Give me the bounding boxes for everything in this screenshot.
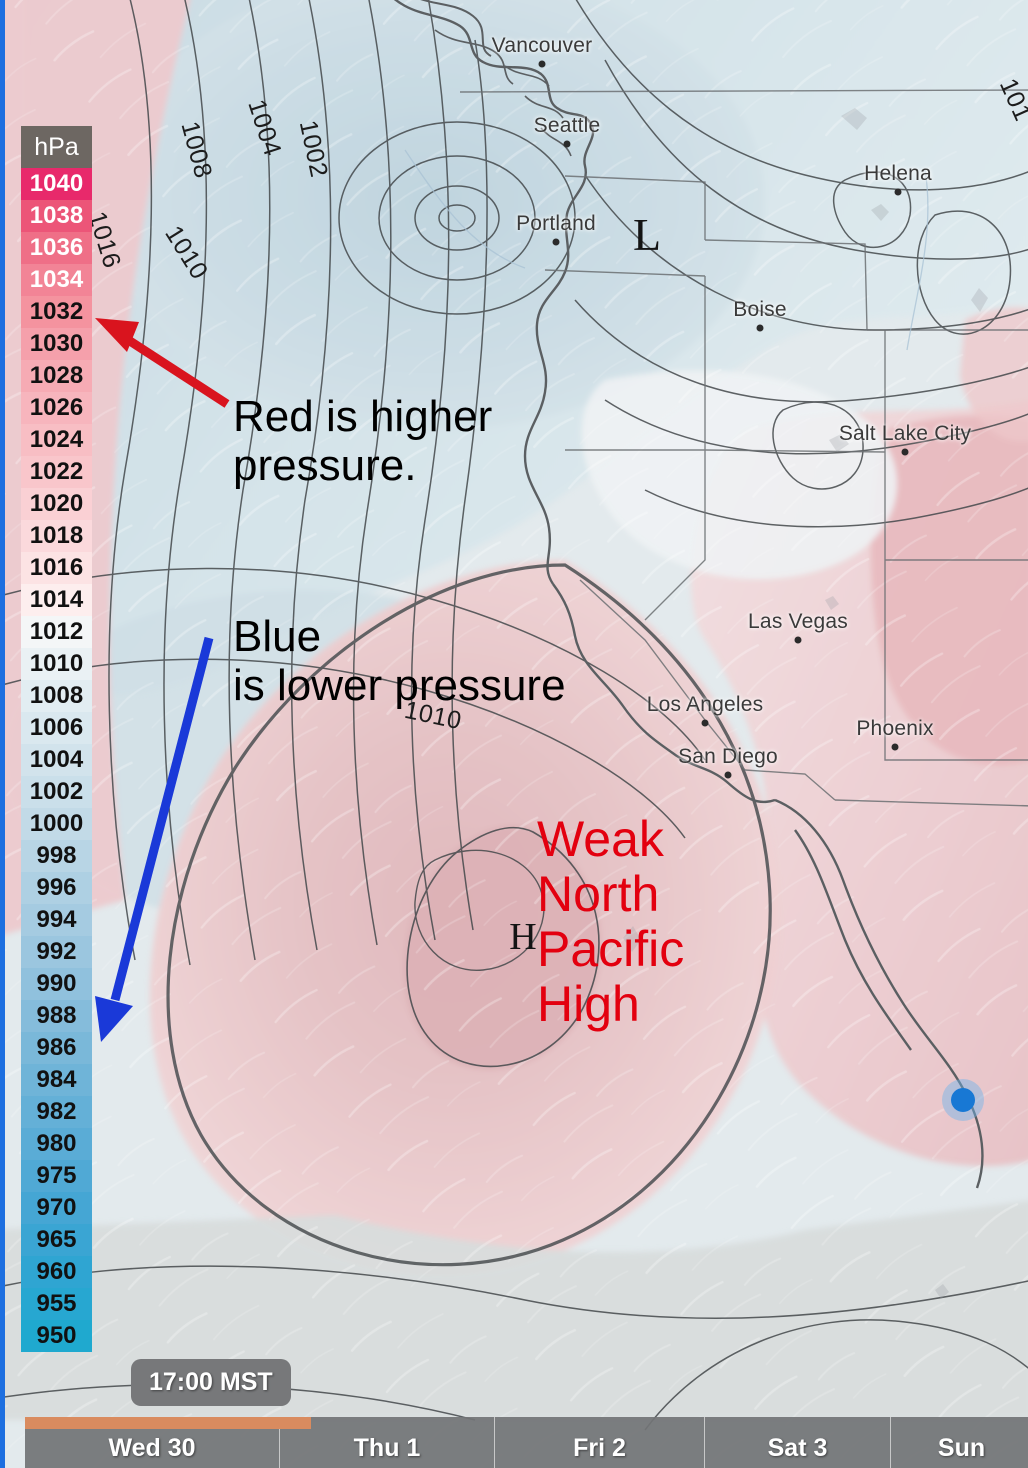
colorbar-level-986: 986 <box>21 1032 92 1064</box>
city-label: Portland <box>516 212 596 236</box>
city-label: Los Angeles <box>647 693 764 717</box>
timeline-day-sun[interactable]: Sun <box>891 1417 1028 1468</box>
colorbar-level-975: 975 <box>21 1160 92 1192</box>
city-label: Las Vegas <box>748 610 848 634</box>
colorbar-level-970: 970 <box>21 1192 92 1224</box>
colorbar-level-1012: 1012 <box>21 616 92 648</box>
city-dot-icon <box>892 744 899 751</box>
city-label: Seattle <box>534 114 601 138</box>
colorbar-level-1006: 1006 <box>21 712 92 744</box>
city-label: Helena <box>864 162 932 186</box>
colorbar-level-1000: 1000 <box>21 808 92 840</box>
city-dot-icon <box>725 772 732 779</box>
colorbar-level-1028: 1028 <box>21 360 92 392</box>
colorbar-level-984: 984 <box>21 1064 92 1096</box>
current-location-dot[interactable] <box>951 1088 975 1112</box>
colorbar-level-950: 950 <box>21 1320 92 1352</box>
weather-map-app: 100810041002101610101011010 VancouverSea… <box>0 0 1028 1468</box>
colorbar-level-1034: 1034 <box>21 264 92 296</box>
colorbar-level-965: 965 <box>21 1224 92 1256</box>
timeline-day-label: Fri 2 <box>573 1434 626 1463</box>
colorbar-level-1036: 1036 <box>21 232 92 264</box>
city-label: Phoenix <box>856 717 933 741</box>
timeline-day-label: Thu 1 <box>354 1434 421 1463</box>
annotation-blue-lower-pressure: Blue is lower pressure <box>233 612 566 711</box>
colorbar-level-1020: 1020 <box>21 488 92 520</box>
colorbar-level-1024: 1024 <box>21 424 92 456</box>
colorbar-level-1002: 1002 <box>21 776 92 808</box>
colorbar-level-1030: 1030 <box>21 328 92 360</box>
colorbar-unit-label: hPa <box>21 126 92 168</box>
timeline-day-thu-1[interactable]: Thu 1 <box>280 1417 495 1468</box>
city-label: Salt Lake City <box>839 422 971 446</box>
timeline-day-fri-2[interactable]: Fri 2 <box>495 1417 705 1468</box>
city-label: Vancouver <box>492 34 593 58</box>
city-dot-icon <box>895 189 902 196</box>
colorbar-level-1022: 1022 <box>21 456 92 488</box>
annotation-red-higher-pressure: Red is higher pressure. <box>233 392 492 491</box>
colorbar-level-998: 998 <box>21 840 92 872</box>
timeline-progress-bar <box>25 1417 311 1429</box>
colorbar-level-1010: 1010 <box>21 648 92 680</box>
colorbar-level-996: 996 <box>21 872 92 904</box>
colorbar-level-982: 982 <box>21 1096 92 1128</box>
annotation-weak-north-pacific-high: Weak North Pacific High <box>537 812 684 1032</box>
pressure-system-low-marker: L <box>633 212 661 258</box>
colorbar-level-1014: 1014 <box>21 584 92 616</box>
colorbar-level-960: 960 <box>21 1256 92 1288</box>
timeline-day-label: Sat 3 <box>768 1434 828 1463</box>
city-dot-icon <box>539 61 546 68</box>
city-dot-icon <box>757 325 764 332</box>
pressure-system-high-marker: H <box>509 918 536 956</box>
colorbar-level-1008: 1008 <box>21 680 92 712</box>
colorbar-level-1018: 1018 <box>21 520 92 552</box>
colorbar-level-980: 980 <box>21 1128 92 1160</box>
colorbar-level-1040: 1040 <box>21 168 92 200</box>
timeline-day-sat-3[interactable]: Sat 3 <box>705 1417 891 1468</box>
colorbar-level-1026: 1026 <box>21 392 92 424</box>
colorbar-level-990: 990 <box>21 968 92 1000</box>
city-dot-icon <box>902 449 909 456</box>
colorbar-level-1004: 1004 <box>21 744 92 776</box>
city-label: Boise <box>733 298 787 322</box>
colorbar-level-988: 988 <box>21 1000 92 1032</box>
time-tooltip: 17:00 MST <box>131 1359 291 1406</box>
colorbar-level-1038: 1038 <box>21 200 92 232</box>
colorbar-level-1032: 1032 <box>21 296 92 328</box>
colorbar-level-994: 994 <box>21 904 92 936</box>
city-dot-icon <box>564 141 571 148</box>
city-label: San Diego <box>678 745 778 769</box>
colorbar-level-992: 992 <box>21 936 92 968</box>
pressure-colorbar[interactable]: hPa 104010381036103410321030102810261024… <box>21 126 92 1352</box>
colorbar-level-955: 955 <box>21 1288 92 1320</box>
timeline-day-label: Sun <box>938 1434 985 1463</box>
colorbar-scale: 1040103810361034103210301028102610241022… <box>21 168 92 1352</box>
colorbar-level-1016: 1016 <box>21 552 92 584</box>
city-dot-icon <box>795 637 802 644</box>
city-dot-icon <box>702 720 709 727</box>
city-dot-icon <box>553 239 560 246</box>
timeline-day-label: Wed 30 <box>108 1434 195 1463</box>
